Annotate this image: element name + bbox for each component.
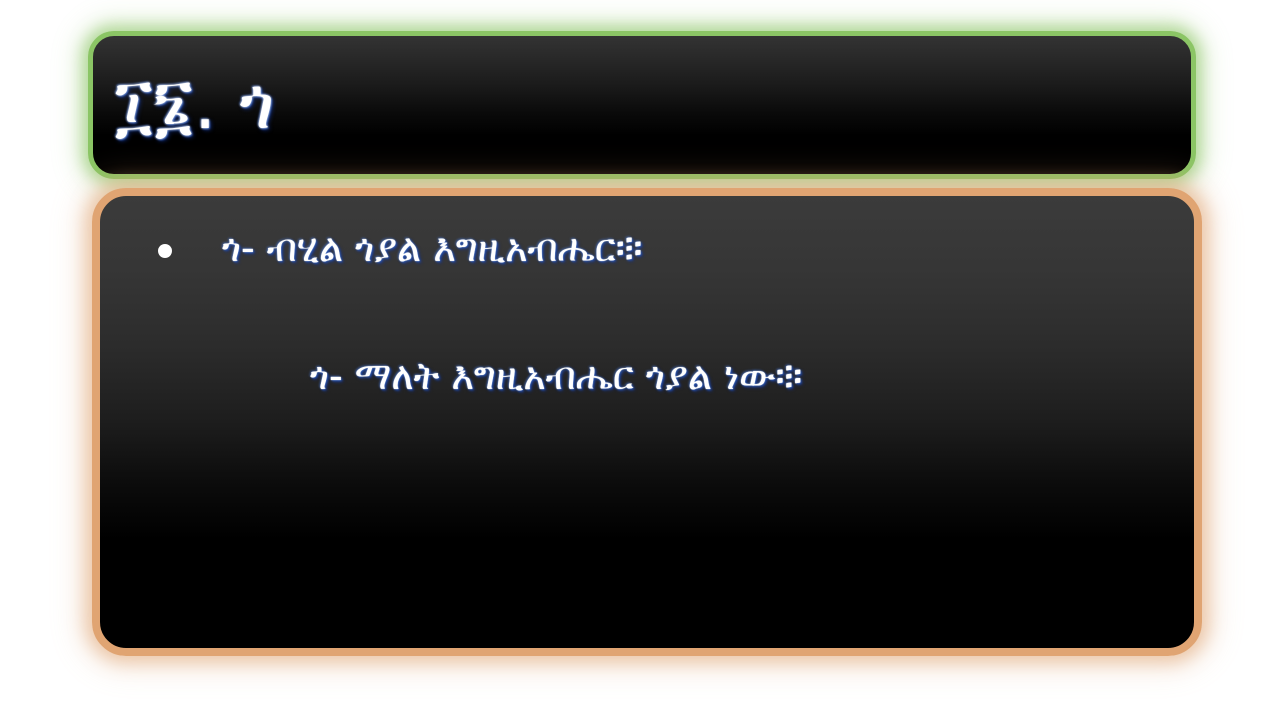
- list-item-label: ጎ- ብሂል ጎያል እግዚአብሔር፨: [222, 222, 642, 276]
- list-item-label: ጎ- ማለት እግዚአብሔር ጎያል ነው፨: [310, 350, 802, 404]
- bullet-dot-icon: [158, 244, 172, 258]
- body-bullet-list: ጎ- ብሂል ጎያል እግዚአብሔር፨ ጎ- ማለት እግዚአብሔር ጎያል ነ…: [100, 196, 1194, 404]
- list-item-spacer: [100, 276, 1194, 350]
- list-item[interactable]: ጎ- ማለት እግዚአብሔር ጎያል ነው፨: [100, 350, 1194, 404]
- presentation-slide: ፲፮. ጎ ጎ- ብሂል ጎያል እግዚአብሔር፨ ጎ- ማለት እግዚአብሔር…: [0, 0, 1280, 720]
- slide-body-placeholder[interactable]: ጎ- ብሂል ጎያል እግዚአብሔር፨ ጎ- ማለት እግዚአብሔር ጎያል ነ…: [92, 188, 1202, 656]
- list-item[interactable]: ጎ- ብሂል ጎያል እግዚአብሔር፨: [100, 222, 1194, 276]
- page-title: ፲፮. ጎ: [93, 68, 275, 142]
- slide-title-placeholder[interactable]: ፲፮. ጎ: [88, 31, 1196, 179]
